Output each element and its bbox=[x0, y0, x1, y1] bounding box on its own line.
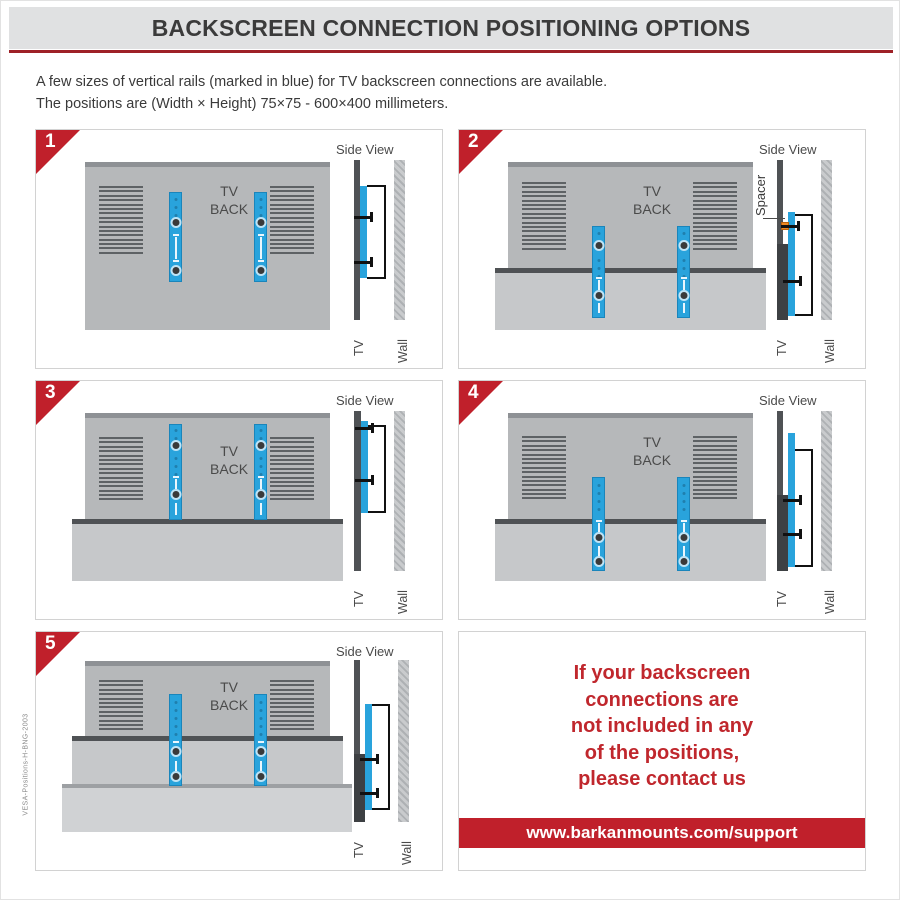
side-view-spacer-label-2: Spacer bbox=[753, 175, 768, 216]
corner-badge-4 bbox=[459, 381, 503, 425]
header-divider bbox=[9, 50, 893, 53]
rail-slot-cap-bottom bbox=[173, 260, 179, 262]
rail-right-4 bbox=[677, 477, 690, 571]
rail-right-2 bbox=[677, 226, 690, 318]
side-view-title-4: Side View bbox=[759, 393, 817, 408]
page-header: BACKSCREEN CONNECTION POSITIONING OPTION… bbox=[9, 7, 893, 49]
rail-slot-cap-top bbox=[681, 277, 687, 279]
panel-number-5: 5 bbox=[45, 634, 56, 653]
tv-back-line-2: BACK bbox=[633, 452, 671, 470]
rail-slot bbox=[175, 237, 177, 259]
rail-bolt-bottom bbox=[255, 489, 266, 500]
rail-left-4 bbox=[592, 477, 605, 571]
rail-slot-cap-top bbox=[596, 277, 602, 279]
side-view-wall-label-5: Wall bbox=[400, 841, 414, 865]
intro-text: A few sizes of vertical rails (marked in… bbox=[36, 71, 856, 116]
tv-back-line-1: TV bbox=[210, 679, 248, 697]
side-view-bracket bbox=[368, 425, 386, 513]
support-message: If your backscreen connections are not i… bbox=[459, 660, 865, 793]
panel-number-2: 2 bbox=[468, 132, 479, 151]
rail-slot-cap-top bbox=[681, 520, 687, 522]
rail-left-3 bbox=[169, 424, 182, 520]
rail-hole-dots bbox=[259, 701, 262, 741]
side-view-screw-head-top bbox=[376, 754, 379, 764]
support-line-2: connections are bbox=[459, 687, 865, 714]
rail-bolt-top bbox=[678, 532, 689, 543]
rail-bolt-top bbox=[255, 217, 266, 228]
support-line-4: of the positions, bbox=[459, 740, 865, 767]
side-view-tv-label-4: TV bbox=[775, 591, 789, 607]
side-view-screw-head-bottom bbox=[799, 529, 802, 539]
rail-slot-lower bbox=[683, 303, 685, 313]
panel-number-3: 3 bbox=[45, 383, 56, 402]
rail-bolt-top bbox=[678, 240, 689, 251]
rail-slot bbox=[598, 280, 600, 290]
side-view-tv-label-3: TV bbox=[352, 591, 366, 607]
tv-back-line-2: BACK bbox=[210, 461, 248, 479]
panel-option-3: 3 Side View TV BACK bbox=[35, 380, 443, 620]
side-view-spacer-leader bbox=[763, 218, 785, 219]
rail-slot-cap-top bbox=[258, 234, 264, 236]
side-view-wall bbox=[398, 660, 409, 822]
rail-bolt-top bbox=[593, 532, 604, 543]
vent-right bbox=[693, 182, 737, 252]
side-view-wall bbox=[821, 411, 832, 571]
rail-slot-cap-bottom bbox=[258, 260, 264, 262]
tv-back-label-3: TV BACK bbox=[210, 443, 248, 478]
tv-back-label-2: TV BACK bbox=[633, 183, 671, 218]
corner-badge-5 bbox=[36, 632, 80, 676]
side-view-rail bbox=[360, 186, 367, 278]
corner-badge-2 bbox=[459, 130, 503, 174]
rail-left-5 bbox=[169, 694, 182, 786]
rail-bolt-bottom bbox=[255, 265, 266, 276]
rail-bolt-bottom bbox=[593, 290, 604, 301]
rail-bolt-bottom bbox=[678, 556, 689, 567]
vent-right bbox=[693, 436, 737, 502]
side-view-screw-head-bottom bbox=[370, 257, 373, 267]
side-view-screw-head-top bbox=[371, 423, 374, 433]
side-view-title-5: Side View bbox=[336, 644, 394, 659]
vent-left bbox=[99, 186, 143, 256]
tv-back-line-1: TV bbox=[210, 443, 248, 461]
rail-bolt-bottom bbox=[678, 290, 689, 301]
side-view-title-1: Side View bbox=[336, 142, 394, 157]
panel-number-4: 4 bbox=[468, 383, 479, 402]
rail-bolt-bottom bbox=[170, 771, 181, 782]
support-line-1: If your backscreen bbox=[459, 660, 865, 687]
side-view-tv-label-5: TV bbox=[352, 842, 366, 858]
side-view-wall bbox=[821, 160, 832, 320]
panel-option-5: 5 Side View TV BACK bbox=[35, 631, 443, 871]
rail-slot-cap-top bbox=[258, 741, 264, 743]
tv-step-lower bbox=[495, 273, 766, 330]
rail-hole-dots bbox=[597, 484, 600, 516]
side-view-tv-panel bbox=[354, 411, 361, 571]
rail-slot bbox=[683, 523, 685, 532]
rail-slot-lower bbox=[598, 303, 600, 313]
vent-right bbox=[270, 680, 314, 733]
panel-number-1: 1 bbox=[45, 132, 56, 151]
side-view-title-2: Side View bbox=[759, 142, 817, 157]
rail-bolt-top bbox=[170, 746, 181, 757]
tv-step-lower bbox=[72, 741, 343, 786]
tv-back-line-1: TV bbox=[210, 183, 248, 201]
side-view-screw-head-top bbox=[797, 221, 800, 231]
side-view-screw-head-bottom bbox=[376, 788, 379, 798]
rail-slot-lower bbox=[260, 503, 262, 515]
side-view-wall-label-2: Wall bbox=[823, 339, 837, 363]
rail-slot-lower bbox=[175, 503, 177, 515]
document-page: BACKSCREEN CONNECTION POSITIONING OPTION… bbox=[0, 0, 900, 900]
vent-left bbox=[522, 436, 566, 502]
side-view-wall-label-4: Wall bbox=[823, 590, 837, 614]
side-view-rail bbox=[788, 212, 795, 316]
document-code: VESA-Positions-H-BNG-2003 bbox=[23, 700, 30, 830]
side-view-screw-head-top bbox=[799, 495, 802, 505]
side-view-bracket bbox=[795, 449, 813, 567]
tv-back-line-1: TV bbox=[633, 434, 671, 452]
panel-option-4: 4 Side View TV BACK bbox=[458, 380, 866, 620]
side-view-wall bbox=[394, 411, 405, 571]
rail-hole-dots bbox=[174, 701, 177, 741]
side-view-rail bbox=[361, 421, 368, 513]
rail-slot bbox=[683, 280, 685, 290]
rail-left-1 bbox=[169, 192, 182, 282]
support-line-3: not included in any bbox=[459, 713, 865, 740]
side-view-screw-head-bottom bbox=[371, 475, 374, 485]
side-view-tv-label-2: TV bbox=[775, 340, 789, 356]
rail-bolt-top bbox=[170, 440, 181, 451]
tv-step-lower bbox=[495, 524, 766, 581]
rail-bolt-bottom bbox=[170, 265, 181, 276]
vent-right bbox=[270, 437, 314, 503]
rail-slot bbox=[260, 761, 262, 771]
rail-bolt-top bbox=[170, 217, 181, 228]
tv-back-label-5: TV BACK bbox=[210, 679, 248, 714]
tv-back-label-1: TV BACK bbox=[210, 183, 248, 218]
corner-badge-3 bbox=[36, 381, 80, 425]
support-line-5: please contact us bbox=[459, 766, 865, 793]
rail-slot bbox=[175, 479, 177, 489]
intro-line-1: A few sizes of vertical rails (marked in… bbox=[36, 71, 856, 93]
side-view-wall-label-1: Wall bbox=[396, 339, 410, 363]
tv-back-line-1: TV bbox=[633, 183, 671, 201]
side-view-wall bbox=[394, 160, 405, 320]
side-view-screw-head-top bbox=[370, 212, 373, 222]
support-url-bar[interactable]: www.barkanmounts.com/support bbox=[459, 818, 865, 848]
tv-back-line-2: BACK bbox=[210, 201, 248, 219]
rail-slot-cap-top bbox=[173, 476, 179, 478]
rail-slot-cap-top bbox=[596, 520, 602, 522]
rail-right-5 bbox=[254, 694, 267, 786]
vent-left bbox=[99, 680, 143, 733]
panel-option-2: 2 Side View TV BACK bbox=[458, 129, 866, 369]
rail-bolt-bottom bbox=[593, 556, 604, 567]
rail-bolt-top bbox=[593, 240, 604, 251]
rail-slot-cap-top bbox=[173, 234, 179, 236]
panel-support-contact: If your backscreen connections are not i… bbox=[458, 631, 866, 871]
tv-step-lower bbox=[72, 524, 343, 581]
vent-right bbox=[270, 186, 314, 256]
corner-badge-1 bbox=[36, 130, 80, 174]
rail-left-2 bbox=[592, 226, 605, 318]
intro-line-2: The positions are (Width × Height) 75×75… bbox=[36, 93, 856, 115]
rail-slot-cap-top bbox=[258, 476, 264, 478]
tv-back-line-2: BACK bbox=[210, 697, 248, 715]
tv-back-label-4: TV BACK bbox=[633, 434, 671, 469]
rail-bolt-top bbox=[255, 440, 266, 451]
side-view-wall-label-3: Wall bbox=[396, 590, 410, 614]
rail-bolt-top bbox=[255, 746, 266, 757]
page-title: BACKSCREEN CONNECTION POSITIONING OPTION… bbox=[152, 15, 751, 42]
rail-slot bbox=[598, 523, 600, 532]
tv-back-line-2: BACK bbox=[633, 201, 671, 219]
rail-right-1 bbox=[254, 192, 267, 282]
rail-slot bbox=[175, 761, 177, 771]
rail-slot bbox=[260, 479, 262, 489]
side-view-title-3: Side View bbox=[336, 393, 394, 408]
rail-hole-dots bbox=[682, 484, 685, 516]
rail-slot-cap-top bbox=[173, 741, 179, 743]
rail-bolt-bottom bbox=[170, 489, 181, 500]
panel-option-1: 1 Side View TV BACK bbox=[35, 129, 443, 369]
side-view-tv-label-1: TV bbox=[352, 340, 366, 356]
rail-right-3 bbox=[254, 424, 267, 520]
support-url-link[interactable]: www.barkanmounts.com/support bbox=[526, 823, 797, 843]
vent-left bbox=[522, 182, 566, 252]
rail-bolt-bottom bbox=[255, 771, 266, 782]
side-view-screw-head-bottom bbox=[799, 276, 802, 286]
tv-step-lowest bbox=[62, 788, 352, 832]
side-view-tv-step bbox=[354, 754, 365, 822]
vent-left bbox=[99, 437, 143, 503]
rail-slot bbox=[260, 237, 262, 259]
